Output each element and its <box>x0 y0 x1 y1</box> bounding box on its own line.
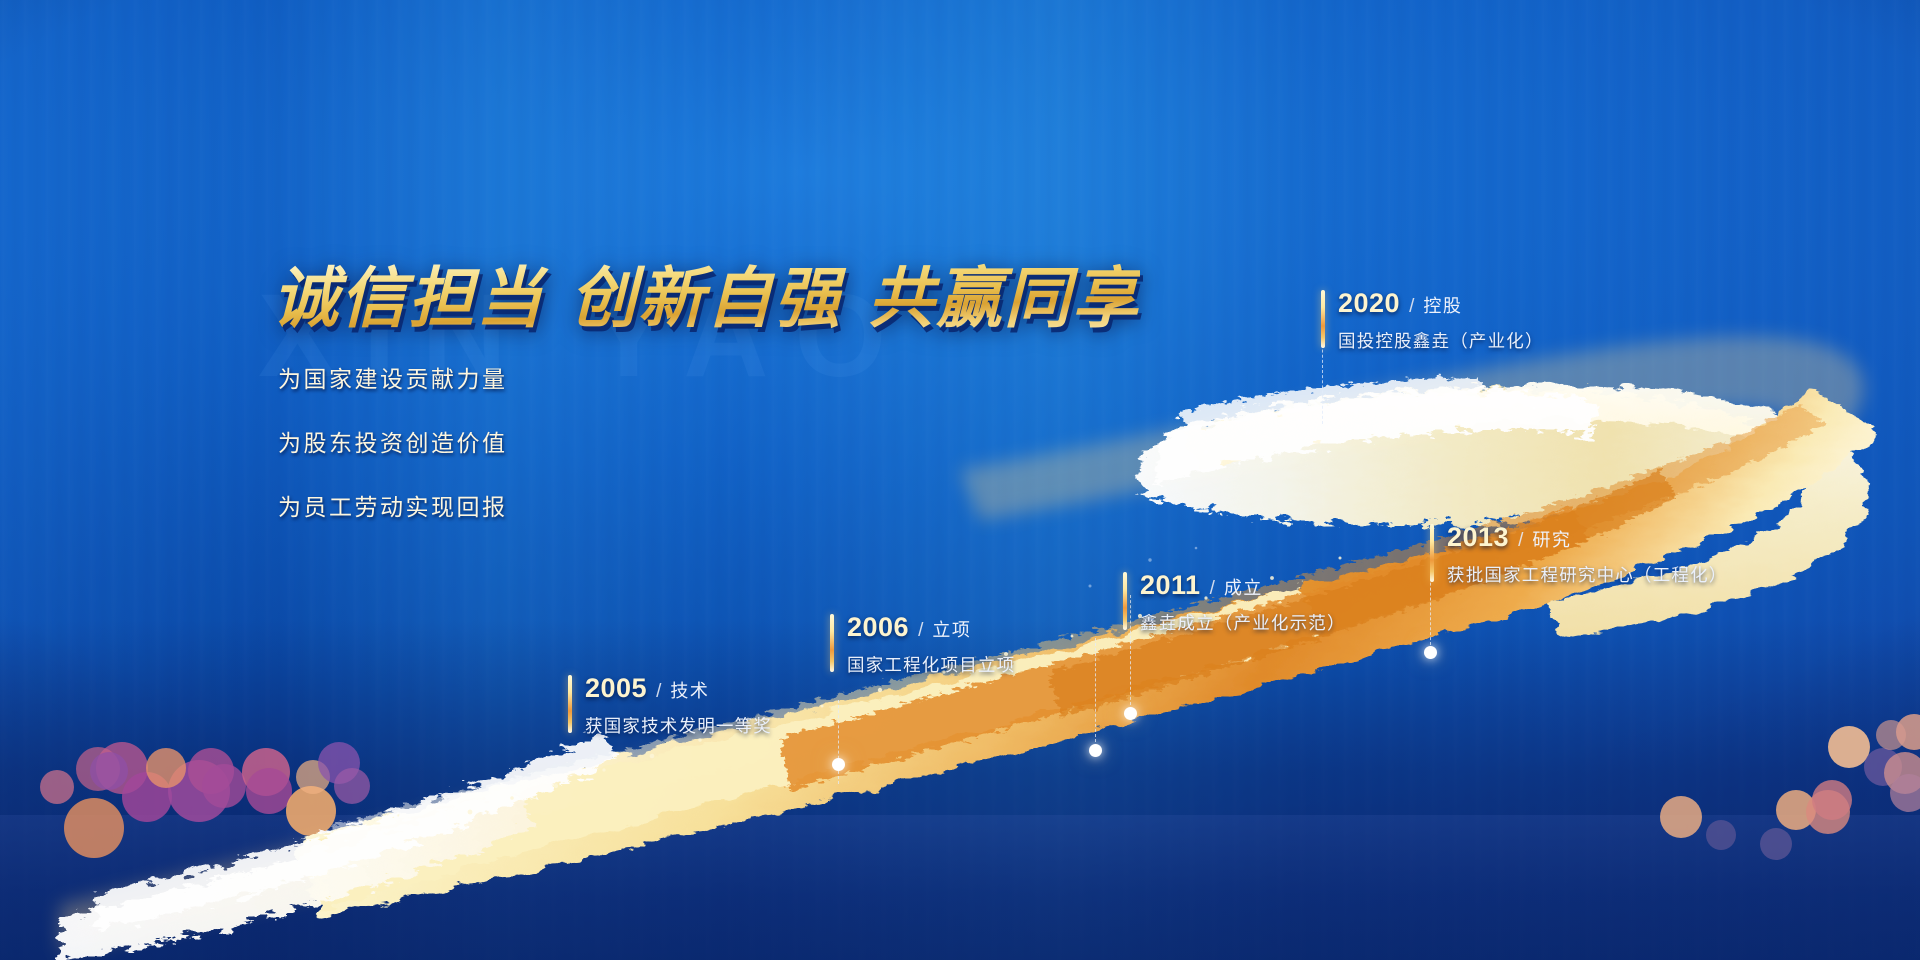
slogan-line-2: 为股东投资创造价值 <box>278 424 508 458</box>
milestone-description-2005: 获国家技术发明一等奖 <box>585 713 772 738</box>
connector-line-2005 <box>838 700 839 784</box>
timeline-dot-2006 <box>1089 744 1102 757</box>
milestone-header-2020: 2020 / 控股 <box>1338 288 1544 319</box>
milestone-tag-2006: 立项 <box>932 616 971 642</box>
slogan-line-1: 为国家建设贡献力量 <box>278 360 508 394</box>
milestone-2013[interactable]: 2013 / 研究 获批国家工程研究中心（工程化） <box>1447 522 1728 587</box>
timeline-dot-2011 <box>1124 707 1137 720</box>
milestone-separator-2020: / <box>1409 296 1414 318</box>
timeline-dot-2005 <box>832 758 845 771</box>
connector-line-2011 <box>1130 595 1131 705</box>
milestone-description-2020: 国投控股鑫垚（产业化） <box>1338 328 1544 353</box>
milestone-tag-2011: 成立 <box>1224 574 1263 600</box>
milestone-header-2006: 2006 / 立项 <box>847 612 1015 643</box>
milestone-header-2005: 2005 / 技术 <box>585 673 772 704</box>
milestone-tag-2005: 技术 <box>670 677 709 703</box>
milestone-tag-2013: 研究 <box>1532 526 1571 552</box>
headline-part-2: 创新自强 <box>570 260 842 337</box>
connector-line-2006 <box>1095 638 1096 742</box>
milestone-header-2013: 2013 / 研究 <box>1447 522 1728 553</box>
timeline-dot-2013 <box>1424 646 1437 659</box>
milestone-accent-bar-2006 <box>830 614 834 672</box>
milestone-2006[interactable]: 2006 / 立项 国家工程化项目立项 <box>847 612 1015 677</box>
milestone-tag-2020: 控股 <box>1423 292 1462 318</box>
milestone-year-2005: 2005 <box>585 673 647 704</box>
milestone-description-2011: 鑫垚成立（产业化示范） <box>1140 610 1346 635</box>
milestone-accent-bar-2005 <box>568 675 572 733</box>
slogan-line-3: 为员工劳动实现回报 <box>278 488 508 522</box>
milestone-2020[interactable]: 2020 / 控股 国投控股鑫垚（产业化） <box>1338 288 1544 353</box>
milestone-year-2006: 2006 <box>847 612 909 643</box>
milestone-year-2011: 2011 <box>1140 570 1201 601</box>
headline-part-3: 共赢同享 <box>868 260 1140 337</box>
milestone-separator-2006: / <box>918 620 923 642</box>
headline-part-1: 诚信担当 <box>272 260 544 337</box>
milestone-description-2006: 国家工程化项目立项 <box>847 652 1015 677</box>
milestone-year-2013: 2013 <box>1447 522 1509 553</box>
milestone-accent-bar-2020 <box>1321 290 1325 348</box>
milestone-accent-bar-2011 <box>1123 572 1127 630</box>
milestone-separator-2005: / <box>656 681 661 703</box>
milestone-separator-2011: / <box>1210 578 1215 600</box>
milestone-accent-bar-2013 <box>1430 524 1434 582</box>
timeline-banner: XIN YAO <box>0 0 1920 960</box>
milestone-2011[interactable]: 2011 / 成立 鑫垚成立（产业化示范） <box>1140 570 1346 635</box>
milestone-header-2011: 2011 / 成立 <box>1140 570 1346 601</box>
slogan-list: 为国家建设贡献力量 为股东投资创造价值 为员工劳动实现回报 <box>278 360 508 552</box>
milestone-2005[interactable]: 2005 / 技术 获国家技术发明一等奖 <box>585 673 772 738</box>
milestone-year-2020: 2020 <box>1338 288 1400 319</box>
milestone-separator-2013: / <box>1518 530 1523 552</box>
milestone-description-2013: 获批国家工程研究中心（工程化） <box>1447 562 1728 587</box>
page-title: 诚信担当创新自强共赢同享 <box>272 245 1140 341</box>
